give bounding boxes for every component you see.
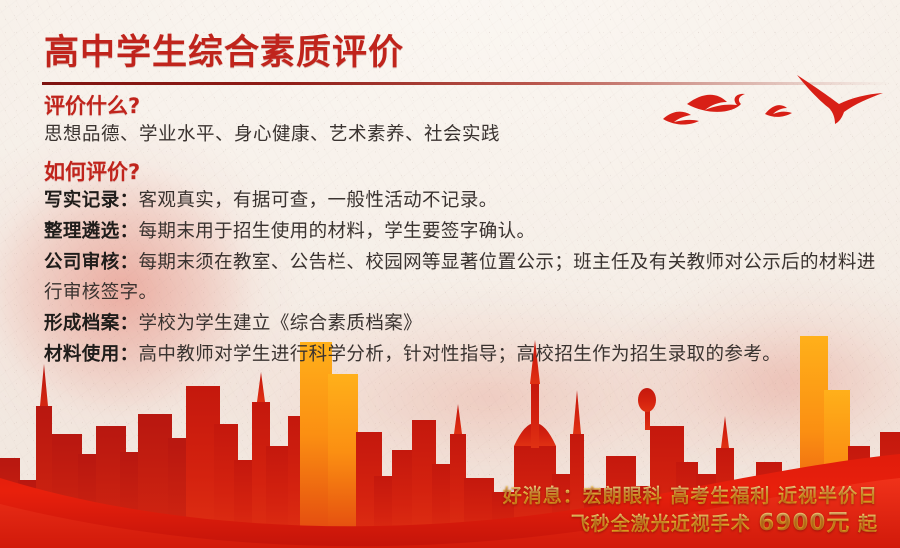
eval-item-text: 每期末用于招生使用的材料，学生要签字确认。 (139, 222, 536, 242)
eval-item-archive: 形成档案：学校为学生建立《综合素质档案》 (44, 310, 882, 340)
promo-line-two: 飞秒全激光近视手术 6900元 起 (503, 509, 878, 538)
poster-canvas: 高中学生综合素质评价 评价什么? 思想品德、学业水平、身心健康、艺术素养、社会实… (0, 0, 900, 548)
eval-item-usage: 材料使用：高中教师对学生进行科学分析，针对性指导；高校招生作为招生录取的参考。 (44, 341, 882, 371)
eval-item-text: 每期末须在教室、公告栏、校园网等显著位置公示；班主任及有关教师对公示后的材料进行… (44, 253, 876, 303)
promo-banner: 好消息：宏朗眼科 高考生福利 近视半价日 飞秒全激光近视手术 6900元 起 (503, 484, 878, 538)
content-body: 评价什么? 思想品德、学业水平、身心健康、艺术素养、社会实践 如何评价? 写实记… (42, 92, 882, 372)
eval-item-text: 客观真实，有据可查，一般性活动不记录。 (139, 191, 498, 211)
eval-item-text: 学校为学生建立《综合素质档案》 (139, 314, 423, 334)
eval-item-selection: 整理遴选：每期末用于招生使用的材料，学生要签字确认。 (44, 218, 882, 248)
promo-service-name: 飞秒全激光近视手术 (571, 513, 751, 535)
promo-price-suffix: 起 (858, 513, 878, 535)
eval-item-label: 整理遴选： (44, 222, 139, 242)
section-heading-how: 如何评价? (44, 158, 882, 186)
section-body-what: 思想品德、学业水平、身心健康、艺术素养、社会实践 (44, 121, 882, 150)
eval-item-record: 写实记录：客观真实，有据可查，一般性活动不记录。 (44, 187, 882, 217)
eval-item-label: 写实记录： (44, 191, 139, 211)
eval-item-label: 形成档案： (44, 314, 139, 334)
section-heading-what: 评价什么? (44, 92, 882, 120)
promo-line-one: 好消息：宏朗眼科 高考生福利 近视半价日 (503, 484, 878, 508)
eval-item-label: 材料使用： (44, 345, 139, 365)
page-title: 高中学生综合素质评价 (44, 24, 404, 75)
eval-item-label: 公司审核： (44, 253, 139, 273)
eval-item-review: 公司审核：每期末须在教室、公告栏、校园网等显著位置公示；班主任及有关教师对公示后… (44, 249, 882, 309)
promo-price: 6900元 (758, 510, 850, 536)
eval-item-text: 高中教师对学生进行科学分析，针对性指导；高校招生作为招生录取的参考。 (139, 345, 782, 365)
